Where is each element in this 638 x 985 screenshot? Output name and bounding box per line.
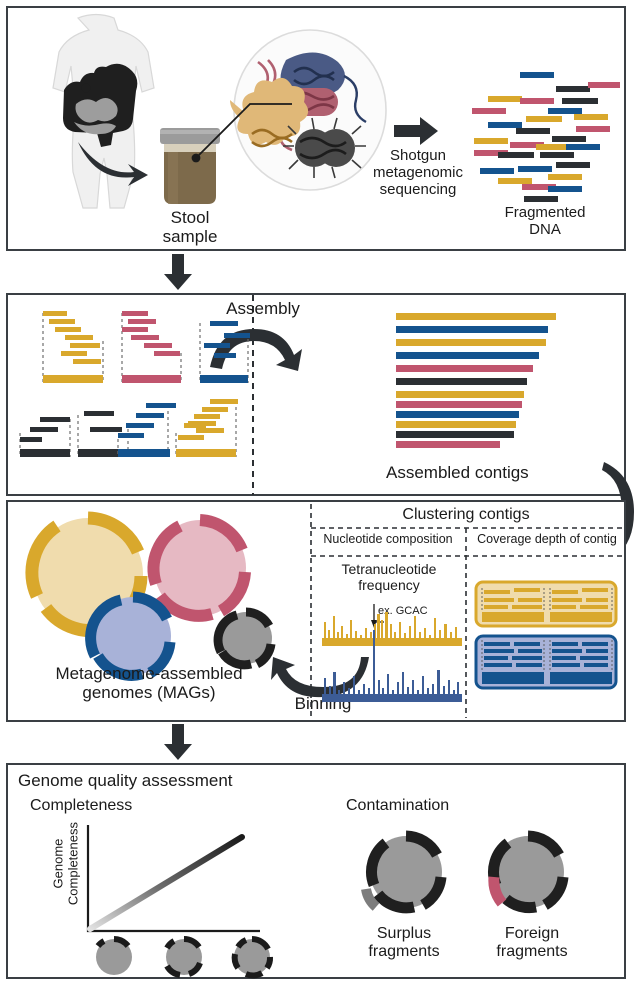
- coverage-contig-blue: [476, 636, 616, 688]
- panel-assembly: Assembly: [6, 293, 626, 496]
- callout-connector-line: [188, 100, 298, 170]
- arrow-body-to-stool: [74, 138, 154, 190]
- genome-icon-low: [96, 939, 132, 975]
- assembled-contigs-illustration: [396, 313, 586, 441]
- tetranucleotide-frequency-plot: [316, 602, 462, 708]
- nucleotide-composition-label: Nucleotide composition: [310, 532, 466, 546]
- fragmented-dna-cloud: [470, 66, 618, 208]
- panel-sampling: Stool sample Shotgun metagenomic sequenc…: [6, 6, 626, 251]
- figure-canvas: Stool sample Shotgun metagenomic sequenc…: [0, 0, 638, 985]
- tetranucleotide-frequency-label: Tetranucleotide frequency: [326, 562, 452, 593]
- mag-dark: [218, 612, 272, 665]
- sequencing-label: Shotgun metagenomic sequencing: [368, 148, 468, 198]
- arrow-sampling-to-assembly: [162, 254, 194, 290]
- mag-circles-illustration: [20, 514, 285, 684]
- coverage-depth-illustration: [474, 580, 622, 692]
- mag-crimson: [154, 520, 246, 616]
- stool-sample-label: Stool sample: [130, 208, 250, 246]
- clustering-contigs-label: Clustering contigs: [308, 506, 624, 524]
- panel-quality: Genome quality assessment Completeness C…: [6, 763, 626, 979]
- arrow-to-sequencing: [392, 116, 440, 146]
- coverage-depth-label: Coverage depth of contig: [468, 532, 626, 546]
- surplus-fragments-icon: [348, 827, 458, 923]
- completeness-genome-icons: [86, 935, 286, 979]
- fragmented-dna-label: Fragmented DNA: [486, 205, 604, 239]
- read-groups-illustration: [18, 311, 248, 487]
- genome-icon-medium: [166, 939, 202, 975]
- mags-label: Metagenome-assembled genomes (MAGs): [24, 664, 274, 702]
- arrow-binning-to-quality: [162, 724, 194, 760]
- panel-binning: Metagenome-assembled genomes (MAGs) Binn…: [6, 500, 626, 722]
- genome-icon-high: [234, 939, 270, 975]
- quality-panel-title: Genome quality assessment: [18, 771, 368, 790]
- completeness-plot: [84, 823, 284, 953]
- contamination-label: Contamination: [346, 797, 526, 815]
- foreign-fragments-label: Foreign fragments: [476, 925, 588, 961]
- y-axis-title: Genome Completeness: [51, 818, 80, 910]
- completeness-chart: Genome Completeness: [38, 823, 298, 973]
- foreign-fragments-icon: [476, 827, 586, 923]
- completeness-label: Completeness: [30, 797, 210, 815]
- assembled-contigs-label: Assembled contigs: [386, 463, 606, 482]
- coverage-contig-gold: [476, 582, 616, 626]
- surplus-fragments-label: Surplus fragments: [348, 925, 460, 961]
